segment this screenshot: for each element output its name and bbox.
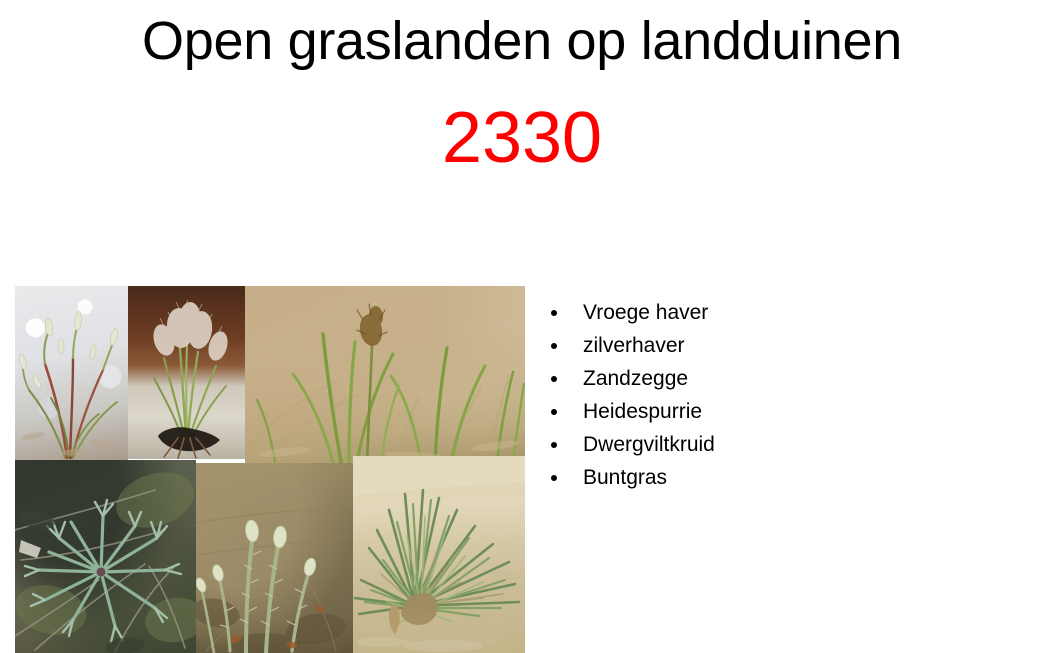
list-item-label: Vroege haver <box>583 301 708 324</box>
list-item: Buntgras <box>545 461 1015 494</box>
list-item: Heidespurrie <box>545 395 1015 428</box>
habitat-code: 2330 <box>0 96 1044 180</box>
bullet-icon <box>551 376 557 382</box>
photo-vroege-haver <box>15 286 128 460</box>
photo-scene <box>15 460 196 653</box>
photo-scene <box>245 286 525 463</box>
zilverhaver-plant-illustration <box>128 286 245 459</box>
bullet-icon <box>551 475 557 481</box>
heidespurrie-plant-illustration <box>15 460 196 653</box>
list-item-label: Zandzegge <box>583 367 688 390</box>
buntgras-plant-illustration <box>353 456 525 653</box>
photo-scene <box>15 286 128 460</box>
vroege-haver-plant-illustration <box>15 286 128 460</box>
photo-heidespurrie <box>15 460 196 653</box>
photo-collage <box>15 286 525 653</box>
list-item-label: zilverhaver <box>583 334 685 357</box>
dwergviltkruid-plant-illustration <box>196 463 353 653</box>
bullet-icon <box>551 310 557 316</box>
bullet-icon <box>551 442 557 448</box>
photo-scene <box>128 286 245 459</box>
photo-dwergviltkruid <box>196 463 353 653</box>
list-item-label: Heidespurrie <box>583 400 702 423</box>
list-item: Vroege haver <box>545 296 1015 329</box>
bullet-icon <box>551 343 557 349</box>
photo-buntgras <box>353 456 525 653</box>
photo-zilverhaver <box>128 286 245 459</box>
list-item-label: Dwergviltkruid <box>583 433 715 456</box>
list-item: Dwergviltkruid <box>545 428 1015 461</box>
photo-zandzegge <box>245 286 525 463</box>
zandzegge-plant-illustration <box>245 286 525 463</box>
photo-scene <box>196 463 353 653</box>
page-title: Open graslanden op landduinen <box>0 6 1044 76</box>
bullet-icon <box>551 409 557 415</box>
photo-scene <box>353 456 525 653</box>
species-list: Vroege haver zilverhaver Zandzegge Heide… <box>545 296 1015 494</box>
list-item-label: Buntgras <box>583 466 667 489</box>
list-item: zilverhaver <box>545 329 1015 362</box>
list-item: Zandzegge <box>545 362 1015 395</box>
